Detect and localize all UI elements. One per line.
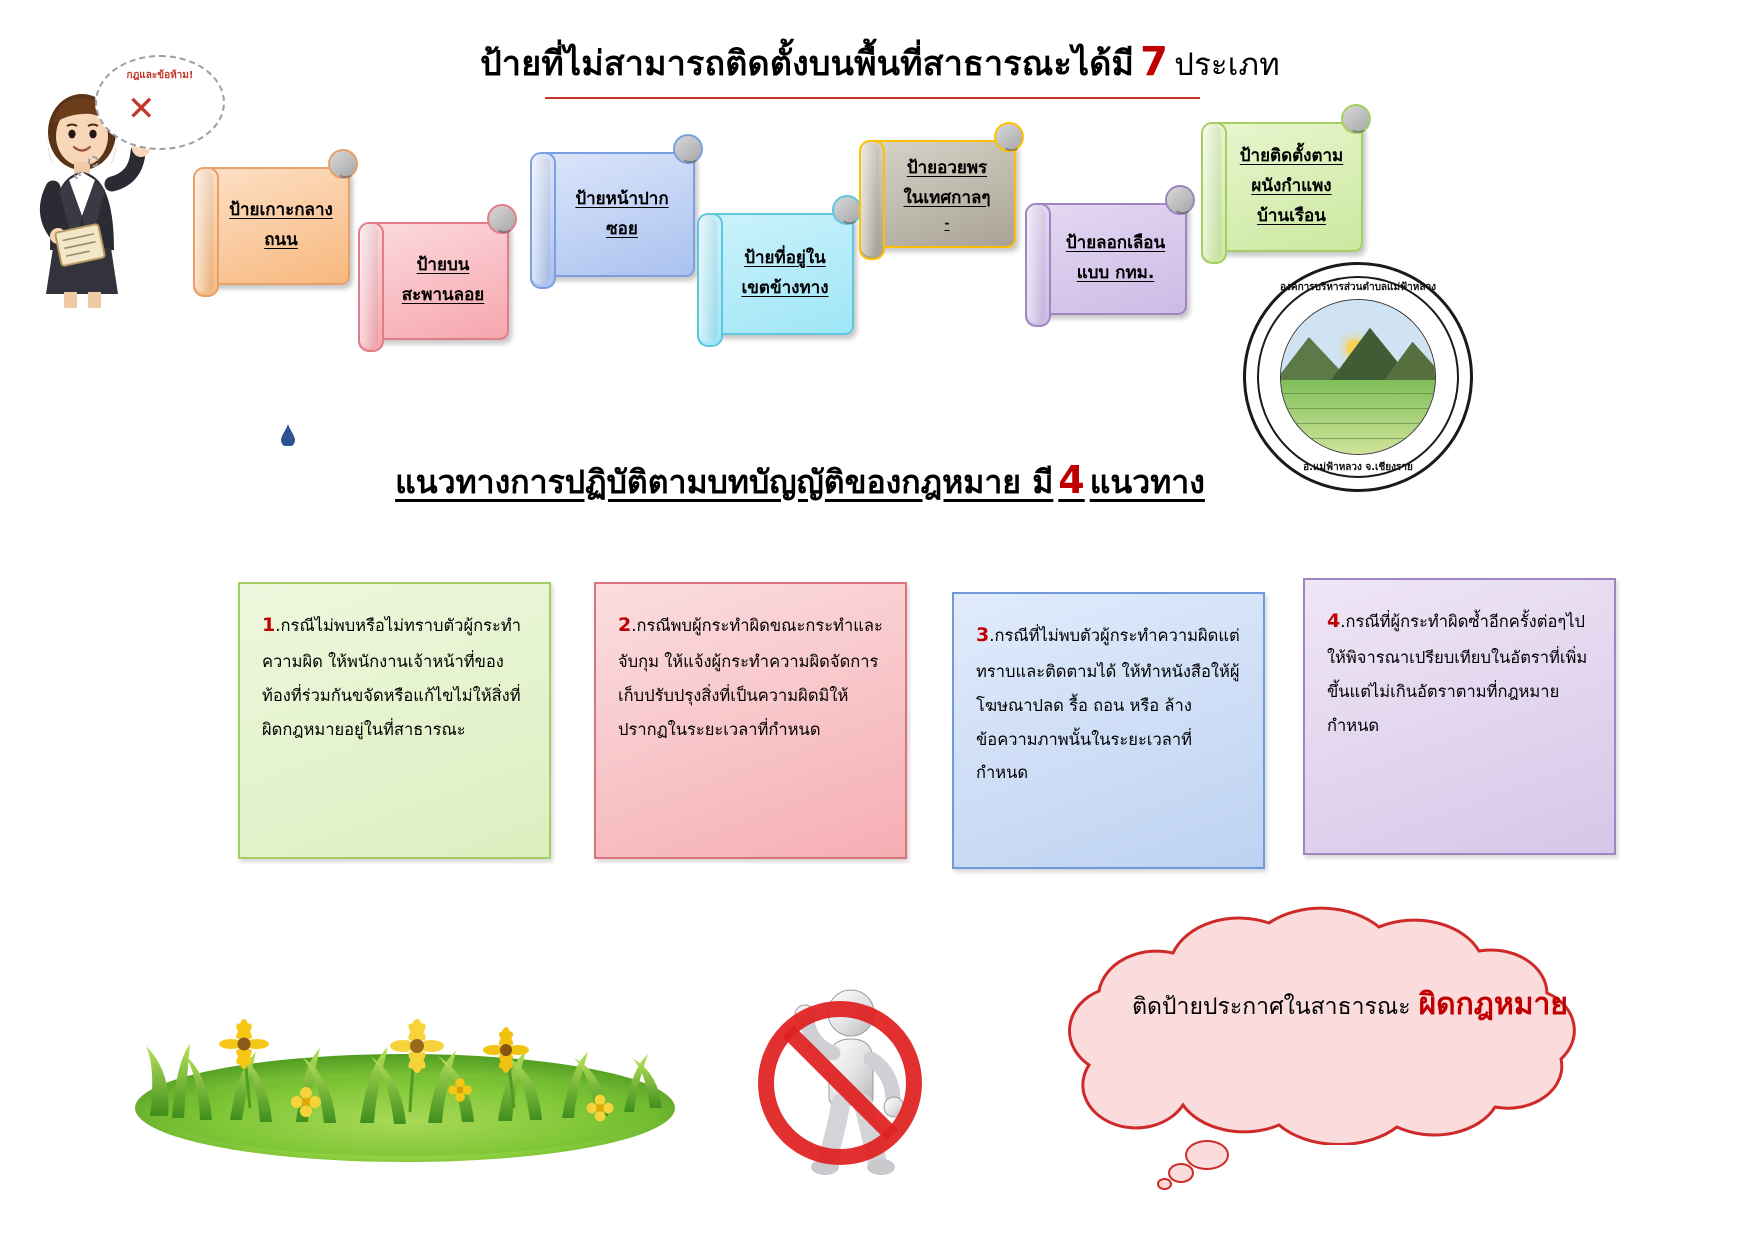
banner-label-line2: เขตข้างทาง <box>742 278 829 298</box>
banner-item-faded-bkk-style-sign[interactable]: ป้ายลอกเลือน แบบ กทม. <box>1032 203 1187 315</box>
scroll-roll-shade <box>195 169 213 293</box>
page-title-tail: ประเภท <box>1174 47 1280 83</box>
scroll-curl-icon <box>1165 185 1195 215</box>
method-text: .กรณีไม่พบหรือไม่ทราบตัวผู้กระทำความผิด … <box>262 616 521 739</box>
method-number: 3 <box>976 624 989 646</box>
method-text: .กรณีที่ไม่พบตัวผู้กระทำความผิดแต่ทราบแล… <box>976 626 1240 782</box>
banner-label: ป้ายลอกเลือน แบบ กทม. <box>1066 229 1165 289</box>
scroll-roll-shade <box>1203 124 1221 260</box>
section-title-lead: แนวทางการปฏิบัติตามบทบัญญัติของกฎหมาย มี <box>395 463 1053 501</box>
banner-label-line1: ป้ายลอกเลือน <box>1066 233 1165 253</box>
banner-label-line1: ป้ายอวยพร <box>907 158 987 178</box>
banner-label-line1: ป้ายบน <box>417 255 470 275</box>
method-number: 4 <box>1327 610 1340 632</box>
banner-label-line2: ถนน <box>264 230 298 250</box>
scroll-roll-shade <box>699 215 717 343</box>
banner-label: ป้ายเกาะกลาง ถนน <box>229 196 333 256</box>
method-text: .กรณีพบผู้กระทำผิดขณะกระทำและจับกุม ให้แ… <box>618 616 883 739</box>
speech-bubble-dot-small <box>74 172 81 179</box>
cloud-tail-bubble-small <box>1157 1178 1172 1190</box>
speech-bubble-label: กฎและข้อห้าม! <box>100 68 220 83</box>
method-card-1: 1.กรณีไม่พบหรือไม่ทราบตัวผู้กระทำความผิด… <box>238 582 551 859</box>
banner-item-alley-entrance-sign[interactable]: ป้ายหน้าปาก ซอย <box>537 152 695 277</box>
scroll-roll-shade <box>360 224 378 348</box>
banner-label-line1: ป้ายเกาะกลาง <box>229 200 333 220</box>
seal-emblem-scene <box>1280 299 1436 455</box>
cross-mark-icon: ✕ <box>127 92 156 126</box>
speech-bubble-dot-large <box>88 156 99 167</box>
scroll-curl-icon <box>487 204 517 234</box>
scroll-curl-icon <box>832 195 862 225</box>
cloud-message: ติดป้ายประกาศในสาธารณะผิดกฎหมาย <box>1060 985 1640 1024</box>
grass-flowers-illustration <box>110 940 700 1170</box>
banner-item-house-wall-sign[interactable]: ป้ายติดตั้งตาม ผนังกำแพง บ้านเรือน <box>1208 122 1363 252</box>
banner-label-line2: ซอย <box>606 219 638 239</box>
page-title-lead: ป้ายที่ไม่สามารถติดตั้งบนพื้นที่สาธารณะไ… <box>480 44 1134 84</box>
banner-label: ป้ายหน้าปาก ซอย <box>575 185 668 245</box>
method-number: 1 <box>262 614 275 636</box>
scroll-roll-shade <box>861 142 879 256</box>
cloud-message-emphasis: ผิดกฎหมาย <box>1411 987 1568 1022</box>
scroll-roll-shade <box>1027 205 1045 323</box>
banner-item-footbridge-sign[interactable]: ป้ายบน สะพานลอย <box>365 222 509 340</box>
thought-cloud <box>985 905 1705 1145</box>
banner-label-line3: บ้านเรือน <box>1257 206 1326 226</box>
banner-label-line2: สะพานลอย <box>402 285 484 305</box>
scroll-curl-icon <box>994 122 1024 152</box>
banner-label-line1: ป้ายหน้าปาก <box>575 189 668 209</box>
section-title-count: 4 <box>1053 458 1089 502</box>
scroll-curl-icon <box>1341 104 1371 134</box>
banner-item-festival-greeting-sign[interactable]: ป้ายอวยพร ในเทศกาลๆ - <box>866 140 1016 248</box>
banner-label: ป้ายติดตั้งตาม ผนังกำแพง บ้านเรือน <box>1240 142 1344 231</box>
title-divider-rule <box>545 97 1200 99</box>
seal-field <box>1281 380 1435 454</box>
section-title-tail: แนวทาง <box>1090 463 1205 501</box>
banner-label-line1: ป้ายติดตั้งตาม <box>1240 146 1344 166</box>
banner-label-line3: - <box>903 213 990 234</box>
banner-item-roadside-zone-sign[interactable]: ป้ายที่อยู่ใน เขตข้างทาง <box>704 213 854 335</box>
page-title-banners: ป้ายที่ไม่สามารถติดตั้งบนพื้นที่สาธารณะไ… <box>330 38 1430 86</box>
prohibition-sign-illustration <box>755 955 955 1185</box>
banner-label: ป้ายที่อยู่ใน เขตข้างทาง <box>742 244 829 304</box>
cloud-tail-bubble-large <box>1185 1140 1229 1170</box>
scroll-curl-icon <box>673 134 703 164</box>
scroll-roll-shade <box>532 154 550 285</box>
cloud-tail-bubble-medium <box>1168 1163 1194 1183</box>
method-card-4: 4.กรณีที่ผู้กระทำผิดซ้ำอีกครั้งต่อๆไปให้… <box>1303 578 1616 855</box>
banner-label-line2: แบบ กทม. <box>1077 263 1155 283</box>
cloud-message-text: ติดป้ายประกาศในสาธารณะ <box>1132 994 1411 1020</box>
method-card-3: 3.กรณีที่ไม่พบตัวผู้กระทำความผิดแต่ทราบแ… <box>952 592 1265 869</box>
banner-label: ป้ายบน สะพานลอย <box>402 251 484 311</box>
banner-label: ป้ายอวยพร ในเทศกาลๆ - <box>903 154 990 235</box>
method-number: 2 <box>618 614 631 636</box>
page-title-count: 7 <box>1134 39 1174 85</box>
seal-text-top: องค์การบริหารส่วนตำบลแม่ฟ้าหลวง <box>1246 280 1470 295</box>
banner-item-median-sign[interactable]: ป้ายเกาะกลาง ถนน <box>200 167 350 285</box>
method-text: .กรณีที่ผู้กระทำผิดซ้ำอีกครั้งต่อๆไปให้พ… <box>1327 612 1587 735</box>
scroll-curl-icon <box>328 149 358 179</box>
method-card-2: 2.กรณีพบผู้กระทำผิดขณะกระทำและจับกุม ให้… <box>594 582 907 859</box>
blue-marker-icon <box>280 424 296 446</box>
banner-label-line2: ผนังกำแพง <box>1251 176 1331 196</box>
section-title-guidelines: แนวทางการปฏิบัติตามบทบัญญัติของกฎหมาย มี… <box>300 458 1300 504</box>
banner-label-line2: ในเทศกาลๆ <box>903 188 990 208</box>
banner-label-line1: ป้ายที่อยู่ใน <box>744 248 826 268</box>
